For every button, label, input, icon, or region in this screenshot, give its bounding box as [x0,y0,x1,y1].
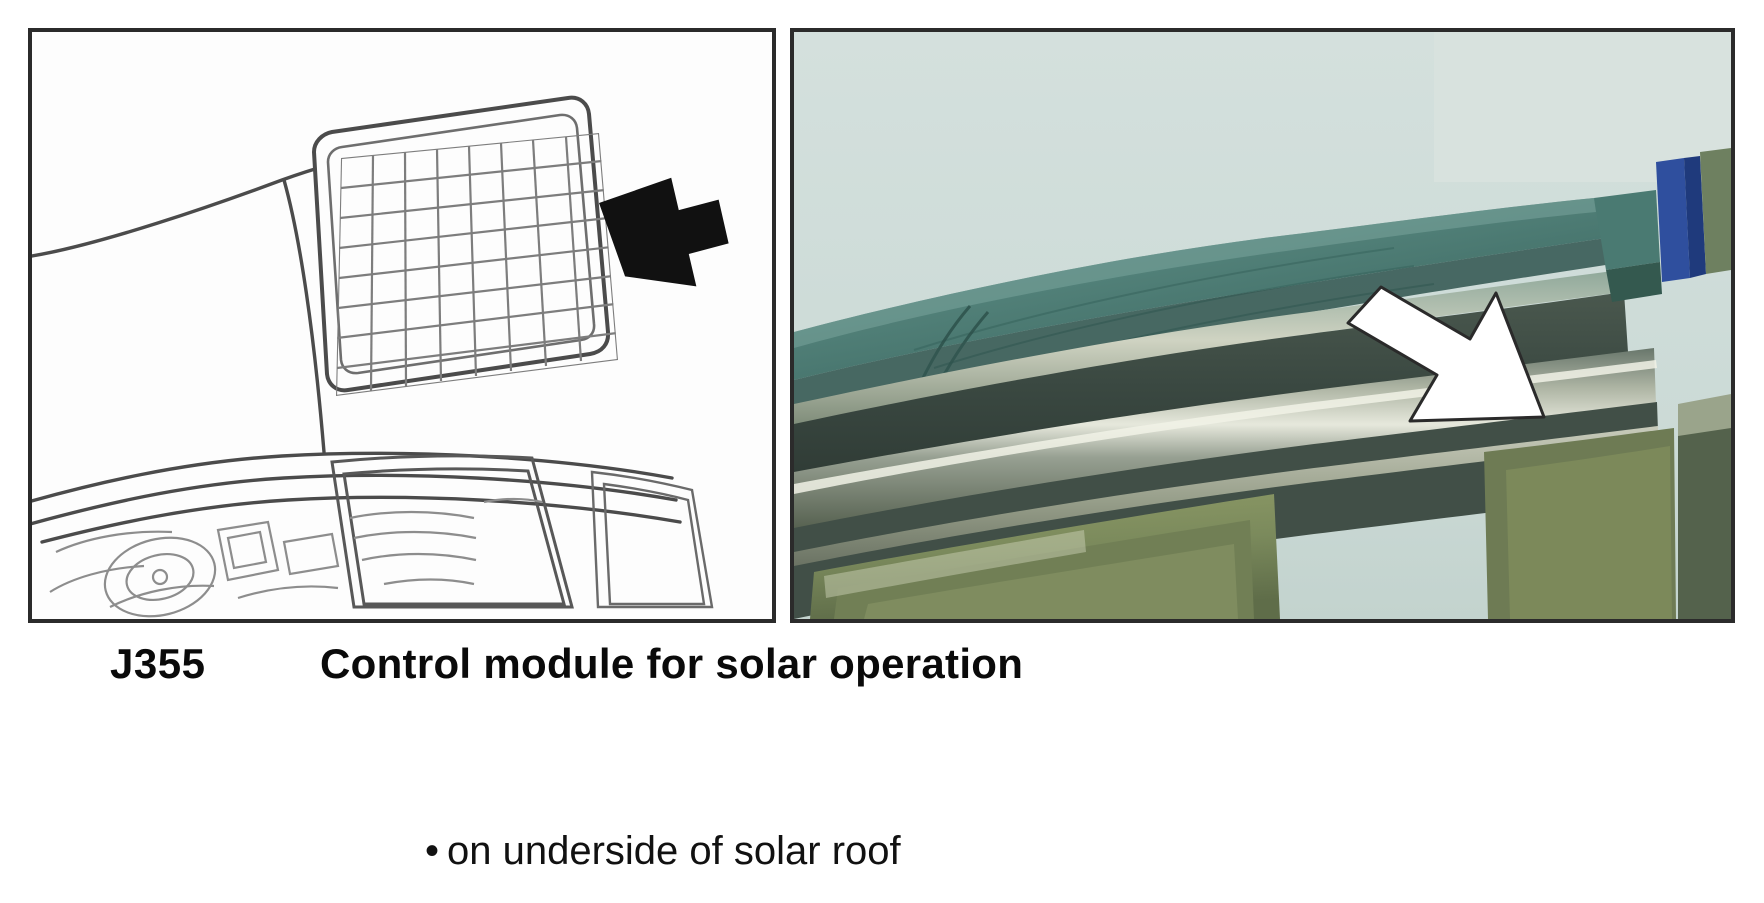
right-figure-panel: US97-1024 [790,28,1735,623]
bullet-marker-icon: • [425,826,447,876]
notes-list: •on underside of solar roof [0,826,1764,876]
photo-solar-roof-edge [794,32,1731,619]
list-item: •on underside of solar roof [425,826,1764,876]
line-drawing-solar-roof [32,32,772,619]
list-item-label: on underside of solar roof [447,829,901,873]
caption-component-name: Control module for solar operation [320,640,1023,688]
black-pointer-arrow [589,168,736,290]
figure-caption: J355 Control module for solar operation [0,640,1764,710]
figure-page: A97-1106 [0,0,1764,903]
figure-row: A97-1106 [0,0,1764,625]
caption-component-code: J355 [110,640,205,688]
left-figure-panel: A97-1106 [28,28,776,623]
